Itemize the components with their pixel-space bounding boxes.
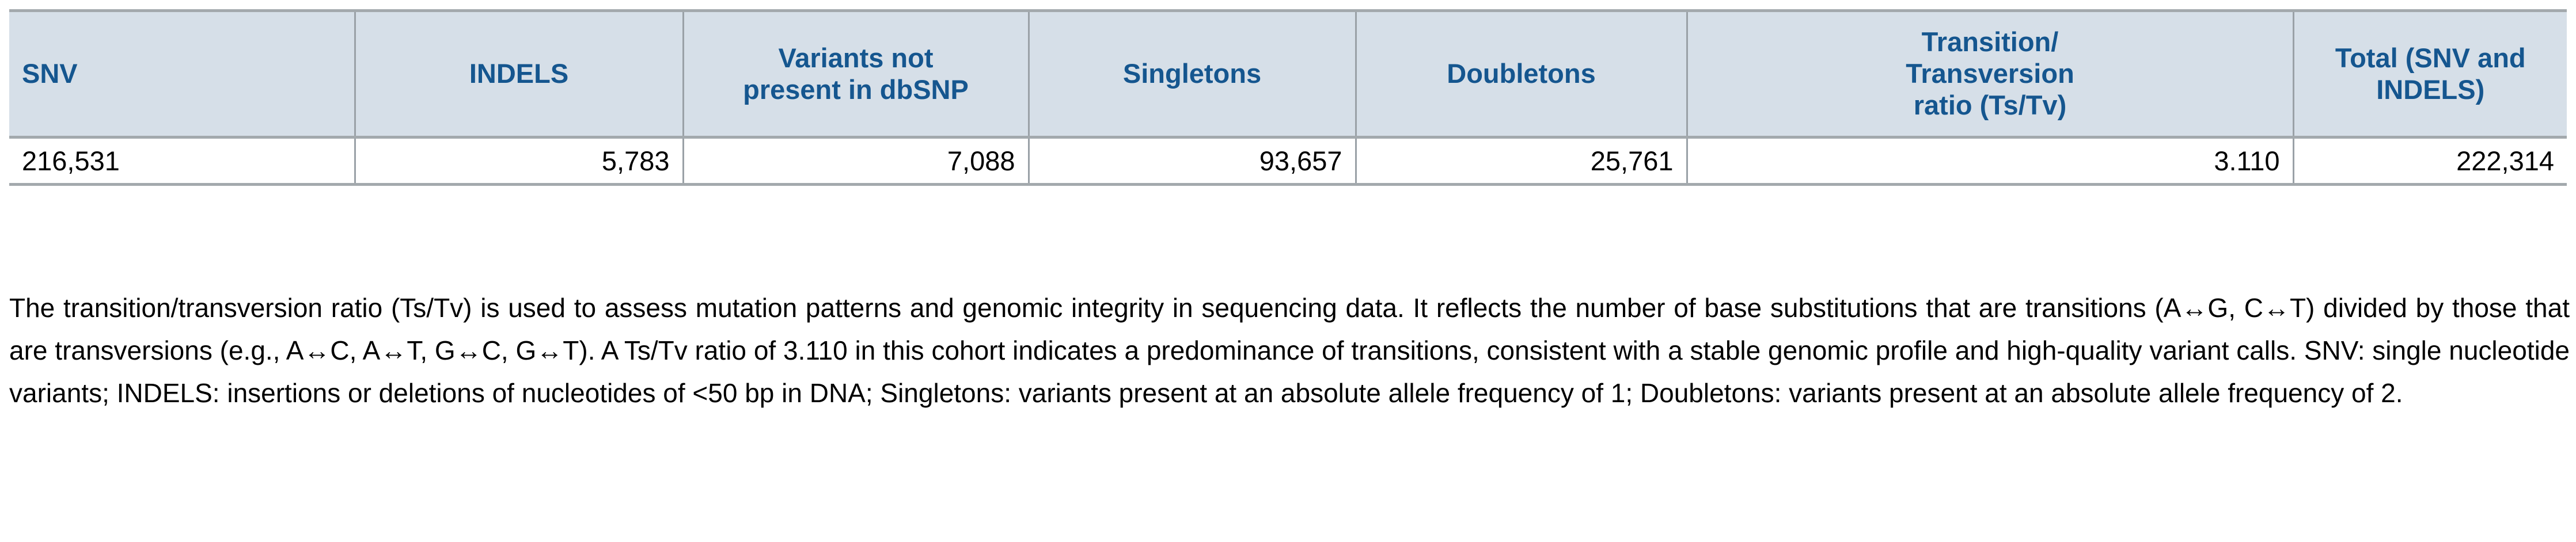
cell-snv: 216,531: [9, 138, 355, 185]
table-caption-text: The transition/transversion ratio (Ts/Tv…: [9, 293, 2570, 408]
cell-indels: 5,783: [355, 138, 683, 185]
table-header: SNV INDELS Variants not present in dbSNP…: [9, 11, 2567, 138]
table-header-row: SNV INDELS Variants not present in dbSNP…: [9, 11, 2567, 138]
column-header-doubletons-label: Doubletons: [1447, 58, 1595, 89]
column-header-variants-not-in-dbsnp-line1: Variants not: [778, 43, 933, 73]
column-header-singletons-label: Singletons: [1123, 58, 1261, 89]
page-root: SNV INDELS Variants not present in dbSNP…: [0, 0, 2576, 542]
column-header-total-line2: INDELS): [2376, 74, 2484, 105]
column-header-variants-not-in-dbsnp: Variants not present in dbSNP: [683, 11, 1029, 138]
variant-summary-table-container: SNV INDELS Variants not present in dbSNP…: [9, 9, 2567, 186]
cell-singletons: 93,657: [1029, 138, 1356, 185]
column-header-total-line1: Total (SNV and: [2335, 43, 2526, 73]
column-header-snv-label: SNV: [22, 58, 78, 89]
column-header-doubletons: Doubletons: [1356, 11, 1687, 138]
column-header-ts-tv-line2: Transversion: [1906, 58, 2074, 89]
column-header-snv: SNV: [9, 11, 355, 138]
column-header-total: Total (SNV and INDELS): [2293, 11, 2567, 138]
column-header-indels-label: INDELS: [469, 58, 568, 89]
cell-doubletons: 25,761: [1356, 138, 1687, 185]
cell-ts-tv-ratio: 3.110: [1687, 138, 2293, 185]
column-header-ts-tv-line1: Transition/: [1922, 26, 2059, 57]
column-header-ts-tv-ratio: Transition/ Transversion ratio (Ts/Tv): [1687, 11, 2293, 138]
variant-summary-table: SNV INDELS Variants not present in dbSNP…: [9, 9, 2567, 186]
column-header-variants-not-in-dbsnp-line2: present in dbSNP: [743, 74, 969, 105]
column-header-singletons: Singletons: [1029, 11, 1356, 138]
column-header-indels: INDELS: [355, 11, 683, 138]
table-row: 216,531 5,783 7,088 93,657 25,761 3.110 …: [9, 138, 2567, 185]
cell-variants-not-in-dbsnp: 7,088: [683, 138, 1029, 185]
column-header-ts-tv-line3: ratio (Ts/Tv): [1914, 90, 2066, 120]
cell-total: 222,314: [2293, 138, 2567, 185]
table-body: 216,531 5,783 7,088 93,657 25,761 3.110 …: [9, 138, 2567, 185]
table-caption: The transition/transversion ratio (Ts/Tv…: [9, 287, 2570, 414]
